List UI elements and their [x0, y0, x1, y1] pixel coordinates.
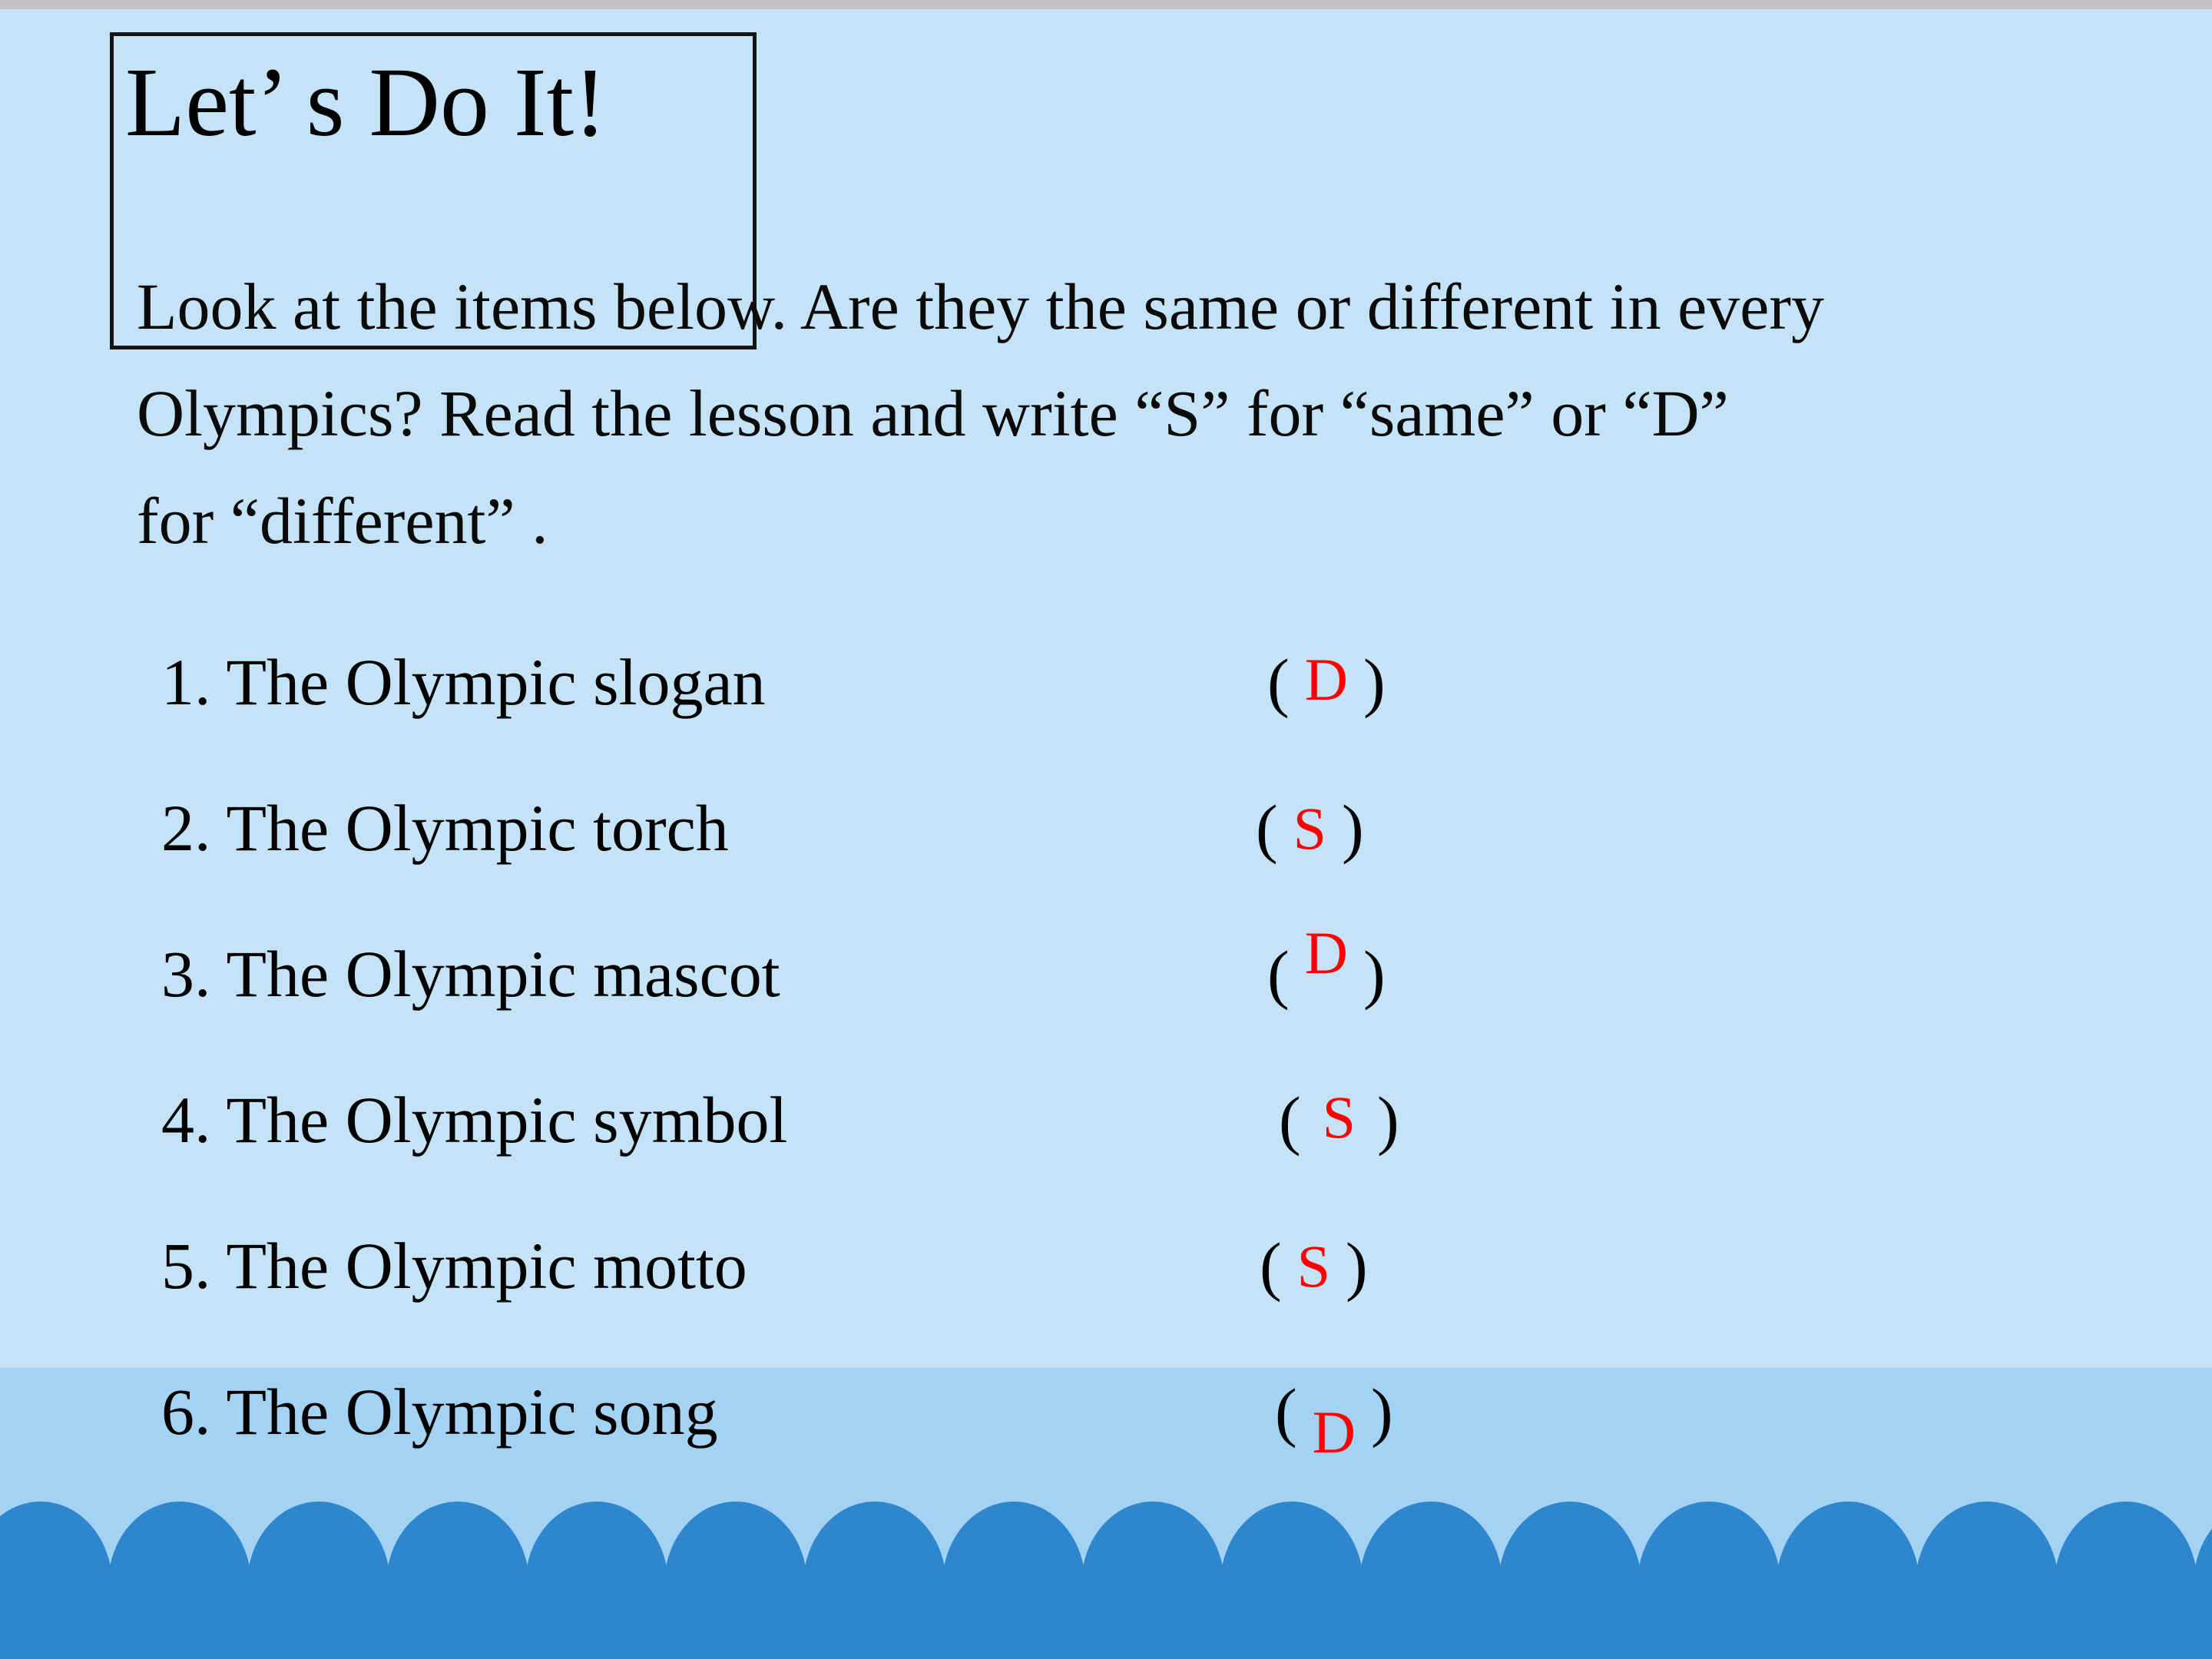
open-paren: ( [1256, 791, 1278, 865]
close-paren: ) [1346, 1229, 1368, 1303]
list-item: 1. The Olympic slogan(D) [161, 637, 2081, 783]
list-item: 6. The Olympic song(D) [161, 1367, 2081, 1513]
answer-group[interactable]: (D) [1267, 935, 1386, 1012]
top-gray-strip [0, 0, 2212, 9]
answer-letter[interactable]: D [1297, 1398, 1371, 1467]
close-paren: ) [1377, 1083, 1399, 1157]
instruction-paragraph: Look at the items below. Are they the sa… [137, 253, 2118, 575]
slide-canvas: Let’ s Do It! Look at the items below. A… [0, 0, 2212, 1659]
item-label: 6. The Olympic song [161, 1373, 718, 1450]
close-paren: ) [1363, 645, 1386, 719]
answer-group[interactable]: (D) [1267, 644, 1386, 720]
close-paren: ) [1371, 1375, 1393, 1449]
answer-group[interactable]: (S) [1279, 1081, 1399, 1158]
answer-group[interactable]: (D) [1275, 1373, 1393, 1450]
open-paren: ( [1279, 1083, 1301, 1157]
list-item: 3. The Olympic mascot(D) [161, 929, 2081, 1075]
open-paren: ( [1267, 937, 1290, 1011]
open-paren: ( [1260, 1229, 1282, 1303]
instruction-line-1: Look at the items below. Are they the sa… [137, 253, 2118, 360]
item-label: 5. The Olympic motto [161, 1227, 747, 1304]
answer-letter[interactable]: S [1282, 1232, 1346, 1301]
answer-letter[interactable]: D [1290, 645, 1363, 714]
answer-group[interactable]: (S) [1260, 1227, 1368, 1304]
answer-letter[interactable]: S [1301, 1083, 1377, 1152]
list-item: 4. The Olympic symbol(S) [161, 1075, 2081, 1221]
item-label: 4. The Olympic symbol [161, 1081, 787, 1158]
open-paren: ( [1267, 645, 1290, 719]
item-label: 3. The Olympic mascot [161, 935, 780, 1012]
close-paren: ) [1342, 791, 1364, 865]
page-title: Let’ s Do It! [125, 40, 755, 166]
open-paren: ( [1275, 1375, 1297, 1449]
olympic-item-list: 1. The Olympic slogan(D)2. The Olympic t… [161, 637, 2081, 1513]
item-label: 2. The Olympic torch [161, 790, 729, 866]
list-item: 5. The Olympic motto(S) [161, 1221, 2081, 1367]
answer-letter[interactable]: S [1278, 794, 1342, 863]
answer-group[interactable]: (S) [1256, 790, 1364, 866]
item-label: 1. The Olympic slogan [161, 644, 766, 720]
instruction-line-2: Olympics? Read the lesson and write “S” … [137, 360, 2118, 467]
answer-letter[interactable]: D [1290, 919, 1363, 988]
instruction-line-3: for “different” . [137, 468, 2118, 575]
close-paren: ) [1363, 937, 1386, 1011]
list-item: 2. The Olympic torch(S) [161, 783, 2081, 929]
